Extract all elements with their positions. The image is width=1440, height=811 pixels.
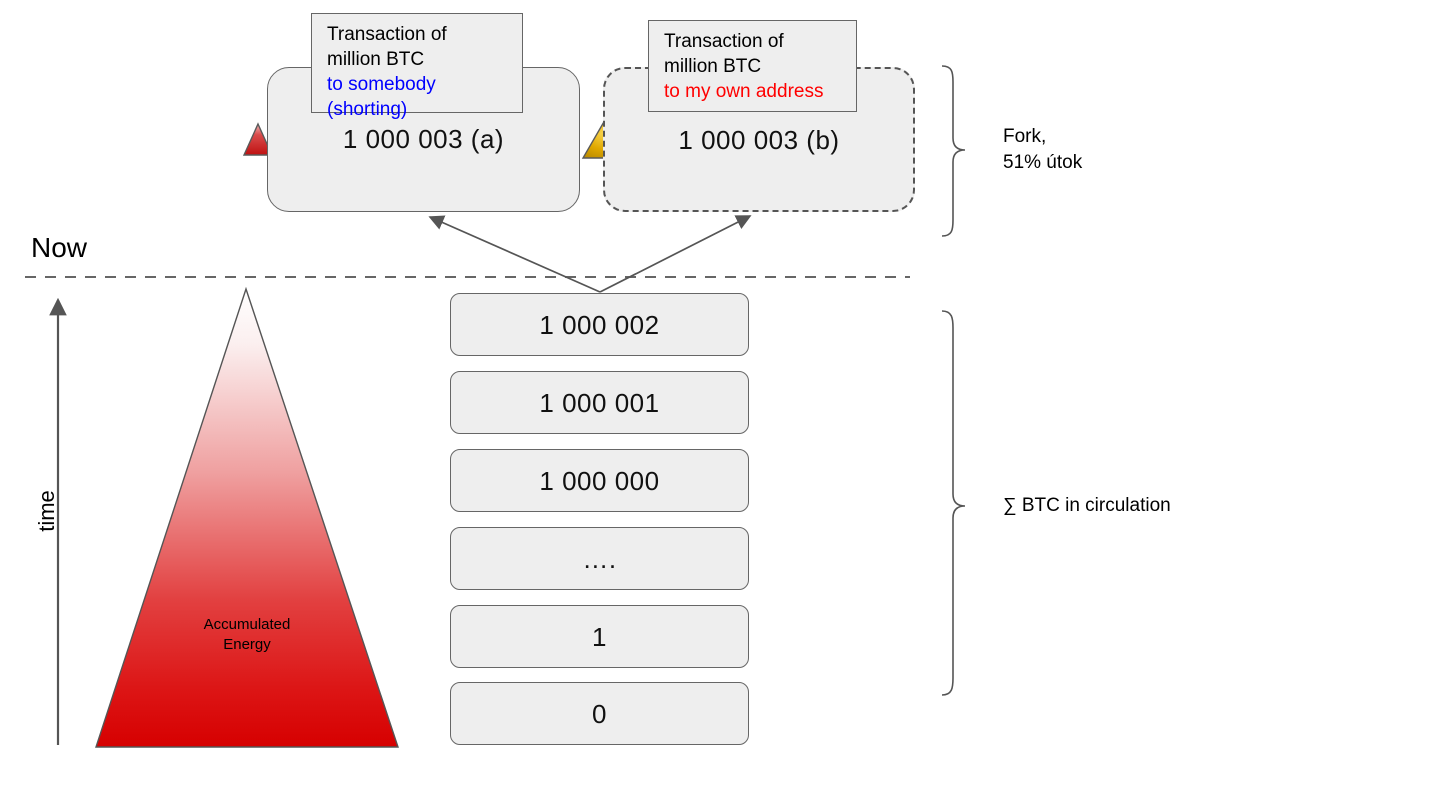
accumulated-energy-triangle [96, 289, 398, 747]
transaction-note-b: Transaction of million BTC to my own add… [648, 20, 857, 112]
note-a-line1: Transaction of [327, 22, 512, 47]
transaction-note-a: Transaction of million BTC to somebody (… [311, 13, 523, 113]
diagram-canvas: 1 000 003 (a) Transaction of million BTC… [0, 0, 1440, 811]
chain-block-label: 1 [592, 624, 607, 650]
chain-block-label: 1 000 000 [539, 468, 659, 494]
chain-block-1000001[interactable]: 1 000 001 [450, 371, 749, 434]
note-b-line3: to my own address [664, 79, 846, 104]
fork-block-b-label: 1 000 003 (b) [605, 125, 913, 156]
fork-arrow-left [430, 217, 600, 292]
fork-arrow-right [600, 216, 750, 292]
accumulated-energy-label: Accumulated Energy [182, 615, 312, 655]
note-b-line1: Transaction of [664, 29, 846, 54]
brace-circulation [942, 311, 965, 695]
fork-block-a-label: 1 000 003 (a) [268, 124, 579, 155]
chain-block-label: …. [582, 546, 616, 572]
chain-block-1[interactable]: 1 [450, 605, 749, 668]
chain-block-1000002[interactable]: 1 000 002 [450, 293, 749, 356]
chain-block-0[interactable]: 0 [450, 682, 749, 745]
time-axis-label: time [34, 476, 60, 546]
chain-block-label: 1 000 002 [539, 312, 659, 338]
note-a-line2: million BTC [327, 47, 512, 72]
brace-circulation-label: ∑ BTC in circulation [1003, 493, 1171, 519]
now-label: Now [31, 232, 87, 264]
chain-block-ellipsis[interactable]: …. [450, 527, 749, 590]
chain-block-label: 0 [592, 701, 607, 727]
note-a-line3: to somebody [327, 72, 512, 97]
note-a-line4: (shorting) [327, 97, 512, 122]
brace-fork [942, 66, 965, 236]
note-b-line2: million BTC [664, 54, 846, 79]
brace-fork-label: Fork, 51% útok [1003, 124, 1082, 176]
chain-block-label: 1 000 001 [539, 390, 659, 416]
chain-block-1000000[interactable]: 1 000 000 [450, 449, 749, 512]
